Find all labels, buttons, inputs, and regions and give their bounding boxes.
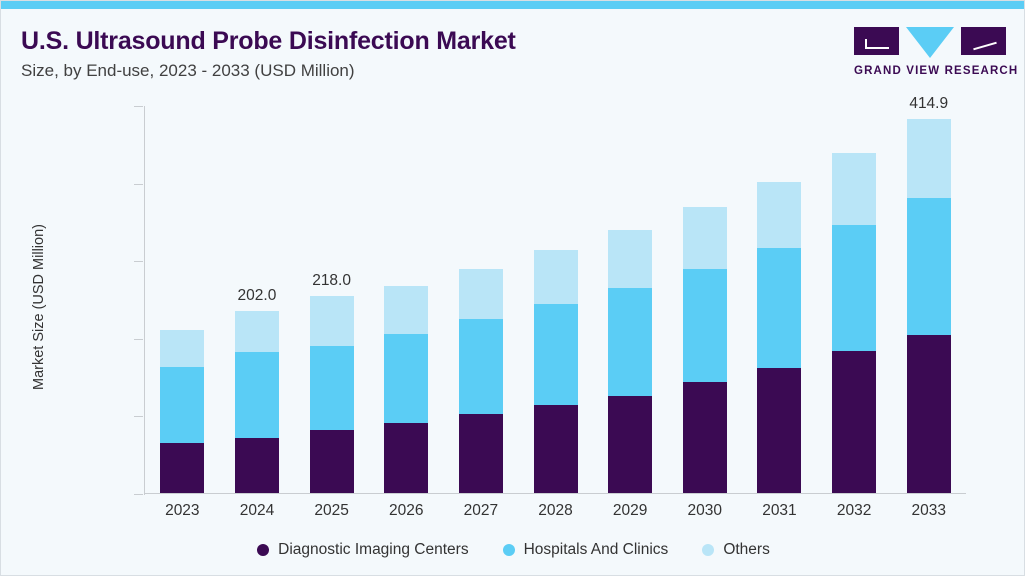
x-axis-tick-label: 2032	[837, 502, 871, 520]
legend-label: Others	[723, 541, 770, 559]
legend-item[interactable]: Hospitals And Clinics	[503, 541, 669, 559]
legend-label: Diagnostic Imaging Centers	[278, 541, 468, 559]
y-axis-tick	[134, 184, 143, 185]
bar-segment[interactable]	[683, 269, 727, 382]
bar-stack[interactable]: 2030	[683, 207, 727, 493]
bar-segment[interactable]	[608, 288, 652, 395]
bar-group-2025[interactable]: 218.02025	[294, 105, 369, 493]
y-axis-title: Market Size (USD Million)	[31, 177, 47, 437]
y-axis-tick	[134, 106, 143, 107]
bar-stack[interactable]: 2026	[384, 286, 428, 493]
bar-segment[interactable]	[907, 335, 951, 493]
bar-value-label: 414.9	[909, 95, 948, 113]
bar-group-2033[interactable]: 414.92033	[891, 105, 966, 493]
bar-segment[interactable]	[310, 430, 354, 493]
bar-group-2028[interactable]: 2028	[518, 105, 593, 493]
bar-segment[interactable]	[384, 286, 428, 334]
bar-segment[interactable]	[459, 319, 503, 414]
bar-segment[interactable]	[534, 304, 578, 404]
bar-stack[interactable]: 2032	[832, 153, 876, 493]
bar-stack[interactable]: 2028	[534, 250, 578, 493]
chart-legend: Diagnostic Imaging CentersHospitals And …	[1, 541, 1025, 559]
logo-r-block-icon	[961, 27, 1006, 55]
legend-item[interactable]: Diagnostic Imaging Centers	[257, 541, 468, 559]
bar-group-2023[interactable]: 2023	[145, 105, 220, 493]
bar-segment[interactable]	[832, 225, 876, 351]
legend-swatch-icon	[257, 544, 269, 556]
bar-segment[interactable]	[310, 346, 354, 430]
legend-swatch-icon	[702, 544, 714, 556]
bar-segment[interactable]	[832, 351, 876, 493]
bar-segment[interactable]	[310, 296, 354, 346]
page-title: U.S. Ultrasound Probe Disinfection Marke…	[21, 27, 516, 56]
bar-group-2027[interactable]: 2027	[444, 105, 519, 493]
logo-v-triangle-icon	[906, 27, 954, 58]
bar-group-2029[interactable]: 2029	[593, 105, 668, 493]
bar-segment[interactable]	[757, 248, 801, 368]
bar-segment[interactable]	[832, 153, 876, 225]
bar-value-label: 218.0	[312, 272, 351, 290]
bar-segment[interactable]	[608, 396, 652, 493]
x-axis-tick-label: 2028	[538, 502, 572, 520]
bar-segment[interactable]	[235, 311, 279, 353]
grand-view-research-logo: GRAND VIEW RESEARCH	[854, 27, 1006, 83]
logo-text: GRAND VIEW RESEARCH	[854, 65, 1006, 77]
x-axis-tick-label: 2027	[464, 502, 498, 520]
bar-series-container: 2023202.02024218.02025202620272028202920…	[145, 105, 966, 493]
bar-segment[interactable]	[608, 230, 652, 288]
bar-segment[interactable]	[160, 330, 204, 367]
x-axis-tick-label: 2026	[389, 502, 423, 520]
x-axis-tick-label: 2025	[314, 502, 348, 520]
bar-segment[interactable]	[683, 382, 727, 493]
x-axis-tick-label: 2033	[911, 502, 945, 520]
bar-segment[interactable]	[384, 423, 428, 493]
bar-group-2030[interactable]: 2030	[667, 105, 742, 493]
y-axis-tick	[134, 261, 143, 262]
y-axis-tick	[134, 339, 143, 340]
bar-segment[interactable]	[534, 405, 578, 493]
top-accent-bar	[1, 1, 1025, 9]
bar-segment[interactable]	[459, 269, 503, 319]
bar-stack[interactable]: 218.02025	[310, 296, 354, 493]
bar-segment[interactable]	[757, 368, 801, 493]
y-axis-tick	[134, 416, 143, 417]
page-subtitle: Size, by End-use, 2023 - 2033 (USD Milli…	[21, 61, 355, 81]
x-axis-tick-label: 2031	[762, 502, 796, 520]
bar-segment[interactable]	[534, 250, 578, 304]
x-axis-tick-label: 2030	[688, 502, 722, 520]
x-axis-tick-label: 2023	[165, 502, 199, 520]
bar-segment[interactable]	[459, 414, 503, 493]
bar-stack[interactable]: 202.02024	[235, 311, 279, 493]
bar-segment[interactable]	[683, 207, 727, 269]
legend-item[interactable]: Others	[702, 541, 770, 559]
x-axis-tick-label: 2024	[240, 502, 274, 520]
bar-segment[interactable]	[235, 352, 279, 438]
bar-segment[interactable]	[907, 119, 951, 198]
bar-stack[interactable]: 2027	[459, 269, 503, 493]
y-axis-tick	[134, 494, 143, 495]
axes: 0.086.0172.0258.0344.0430.0 2023202.0202…	[144, 106, 966, 494]
legend-swatch-icon	[503, 544, 515, 556]
bar-segment[interactable]	[384, 334, 428, 422]
bar-segment[interactable]	[235, 438, 279, 493]
bar-segment[interactable]	[757, 182, 801, 249]
chart-header: U.S. Ultrasound Probe Disinfection Marke…	[1, 9, 1025, 89]
bar-group-2024[interactable]: 202.02024	[220, 105, 295, 493]
bar-segment[interactable]	[160, 367, 204, 444]
bar-group-2031[interactable]: 2031	[742, 105, 817, 493]
bar-value-label: 202.0	[238, 287, 277, 305]
bar-segment[interactable]	[907, 198, 951, 335]
legend-label: Hospitals And Clinics	[524, 541, 669, 559]
bar-group-2026[interactable]: 2026	[369, 105, 444, 493]
x-axis-tick-label: 2029	[613, 502, 647, 520]
logo-marks	[854, 27, 1006, 61]
bar-stack[interactable]: 414.92033	[907, 119, 951, 493]
chart-card: U.S. Ultrasound Probe Disinfection Marke…	[0, 0, 1025, 576]
bar-stack[interactable]: 2029	[608, 230, 652, 493]
bar-stack[interactable]: 2031	[757, 182, 801, 493]
logo-g-block-icon	[854, 27, 899, 55]
bar-segment[interactable]	[160, 443, 204, 493]
bar-stack[interactable]: 2023	[160, 330, 204, 493]
plot-area: Market Size (USD Million) 0.086.0172.025…	[1, 89, 1025, 576]
x-axis-line	[144, 493, 966, 494]
bar-group-2032[interactable]: 2032	[817, 105, 892, 493]
